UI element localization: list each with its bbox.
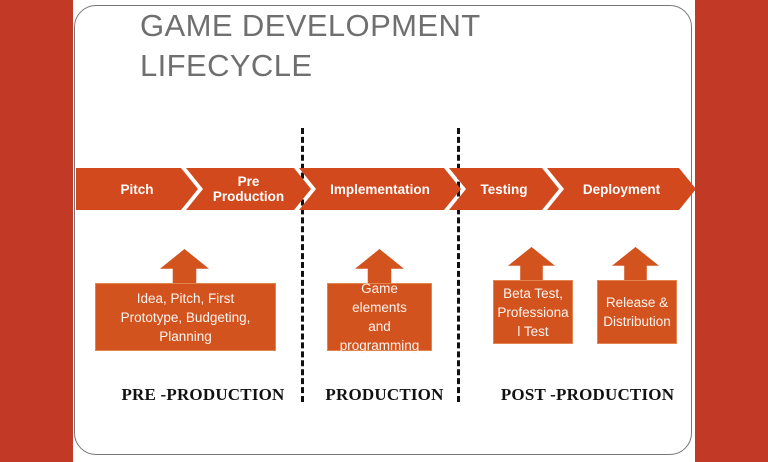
- phase-label-2: PRODUCTION: [312, 385, 457, 405]
- phase-label-3: POST -PRODUCTION: [485, 385, 690, 405]
- detail-box-3[interactable]: Beta Test, Professiona l Test: [493, 280, 573, 344]
- right-red-band: [695, 0, 768, 462]
- detail-box-text: Release & Distribution: [599, 293, 675, 331]
- process-step-deployment[interactable]: Deployment: [547, 168, 696, 210]
- process-step-implementation[interactable]: Implementation: [299, 168, 461, 210]
- process-step-label: Pitch: [114, 182, 159, 197]
- process-step-label: Implementation: [324, 182, 436, 197]
- process-step-pitch[interactable]: Pitch: [76, 168, 198, 210]
- page-title: GAME DEVELOPMENT LIFECYCLE: [140, 6, 640, 86]
- detail-box-1[interactable]: Idea, Pitch, First Prototype, Budgeting,…: [95, 283, 276, 351]
- detail-box-4[interactable]: Release & Distribution: [597, 280, 677, 344]
- detail-box-text: Idea, Pitch, First Prototype, Budgeting,…: [117, 289, 255, 346]
- process-step-label: Pre Production: [207, 174, 290, 204]
- phase-label-1: PRE -PRODUCTION: [108, 385, 298, 405]
- detail-box-text: Game elements and programming: [328, 279, 431, 355]
- left-red-band: [0, 0, 73, 462]
- process-step-label: Deployment: [577, 182, 666, 197]
- process-step-label: Testing: [475, 182, 534, 197]
- detail-box-text: Beta Test, Professiona l Test: [493, 284, 572, 341]
- process-step-pre-production[interactable]: Pre Production: [186, 168, 311, 210]
- detail-box-2[interactable]: Game elements and programming: [327, 283, 432, 351]
- diagram-canvas: GAME DEVELOPMENT LIFECYCLE PitchPre Prod…: [0, 0, 768, 462]
